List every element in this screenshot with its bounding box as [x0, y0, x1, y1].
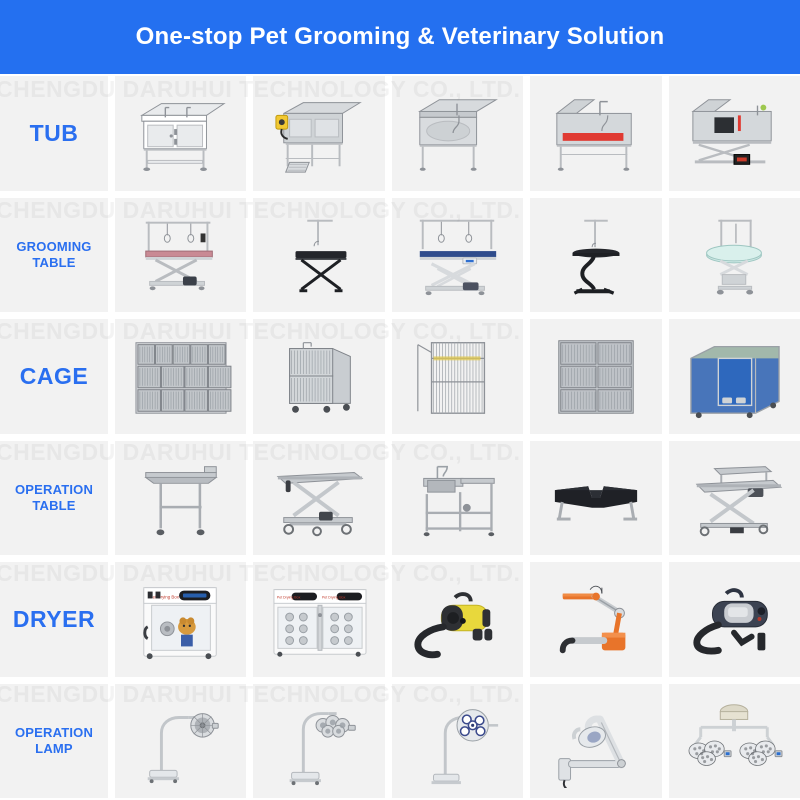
category-label-cell-tub[interactable]: TUB [0, 76, 108, 191]
op-table-sink-icon [398, 451, 516, 545]
category-label-cell-dryer[interactable]: DRYER [0, 562, 108, 677]
header-banner: One-stop Pet Grooming & Veterinary Solut… [0, 0, 800, 74]
product-cell-operation-table-with-sink[interactable] [392, 441, 523, 556]
product-cell-scissor-lift-operation-table[interactable] [253, 441, 384, 556]
category-label-text: DRYER [13, 606, 95, 633]
product-cell-stainless-walk-in-bath-tub[interactable] [392, 76, 523, 191]
op-table-scissor-icon [260, 451, 378, 545]
dryer-blaster-blue-icon [675, 572, 793, 666]
op-table-lift-shelf-icon [675, 451, 793, 545]
product-cell-single-door-drying-cabinet[interactable]: Pet Drying Box [115, 562, 246, 677]
op-table-black-v-icon [537, 451, 655, 545]
svg-text:Pet Drying Box: Pet Drying Box [149, 595, 179, 600]
product-cell-mobile-five-bulb-surgical-lamp[interactable] [392, 684, 523, 799]
category-label-text: GROOMING TABLE [4, 239, 104, 270]
category-label-cell-grooming-table[interactable]: GROOMING TABLE [0, 198, 108, 313]
svg-text:Pet Drying Box: Pet Drying Box [322, 596, 346, 600]
product-cell-stainless-exam-table-adjustable[interactable] [115, 441, 246, 556]
lamp-mobile-single-icon [122, 694, 240, 788]
product-cell-black-v-notch-dental-table[interactable] [530, 441, 661, 556]
product-cell-stainless-tub-red-interior[interactable] [530, 76, 661, 191]
product-cell-electric-lift-grooming-table-pink[interactable] [115, 198, 246, 313]
product-cell-z-lift-grooming-table-black[interactable] [530, 198, 661, 313]
category-label-cell-cage[interactable]: CAGE [0, 319, 108, 434]
category-label-text: TUB [30, 120, 79, 147]
dryer-arm-orange-icon [537, 572, 655, 666]
groom-table-round-mint-icon [675, 208, 793, 302]
product-cell-blue-glass-panel-oxygen-cage[interactable] [669, 319, 800, 434]
product-cell-electric-lift-operation-table-with-shelf[interactable] [669, 441, 800, 556]
groom-table-z-black-icon [537, 208, 655, 302]
product-cell-folding-grooming-table-black[interactable] [253, 198, 384, 313]
product-cell-scissor-lift-grooming-table-blue[interactable] [392, 198, 523, 313]
svg-text:Pet Drying Box: Pet Drying Box [277, 596, 301, 600]
dryer-blaster-yellow-icon [398, 572, 516, 666]
page-title: One-stop Pet Grooming & Veterinary Solut… [136, 23, 665, 51]
catalog-grid: TUB [0, 76, 800, 800]
product-cell-double-door-drying-cabinet[interactable]: Pet Drying Box Pet Drying Box [253, 562, 384, 677]
dryer-cabinet-double-icon: Pet Drying Box Pet Drying Box [260, 572, 378, 666]
cage-bank-icon [122, 329, 240, 423]
product-cell-mobile-single-head-surgical-lamp[interactable] [115, 684, 246, 799]
cage-double-stack-icon [537, 329, 655, 423]
product-cell-mobile-multi-reflector-surgical-lamp[interactable] [253, 684, 384, 799]
lamp-wall-arm-icon [537, 694, 655, 788]
product-cell-yellow-double-motor-blaster[interactable] [392, 562, 523, 677]
lamp-mobile-cluster-icon [260, 694, 378, 788]
cage-glass-blue-icon [675, 329, 793, 423]
cage-two-tier-icon [260, 329, 378, 423]
product-cell-ceiling-dual-head-led-surgical-lamp[interactable] [669, 684, 800, 799]
product-cell-round-grooming-table-mint[interactable] [669, 198, 800, 313]
category-label-cell-operation-lamp[interactable]: OPERATION LAMP [0, 684, 108, 799]
product-cell-blue-silver-pet-blaster[interactable] [669, 562, 800, 677]
category-label-text: OPERATION LAMP [4, 725, 104, 756]
tub-steel-open-icon [398, 86, 516, 180]
tub-steel-yellow-unit-icon [260, 86, 378, 180]
product-cell-stainless-tub-with-yellow-dryer[interactable] [253, 76, 384, 191]
product-cell-double-stack-stainless-cage[interactable] [530, 319, 661, 434]
lamp-mobile-five-icon [398, 694, 516, 788]
product-catalog-page: One-stop Pet Grooming & Veterinary Solut… [0, 0, 800, 800]
product-cell-multi-door-stainless-cage-bank[interactable] [115, 319, 246, 434]
product-cell-white-enclosed-pet-bath-tub[interactable] [115, 76, 246, 191]
tub-white-cabinet-icon [122, 86, 240, 180]
cage-wire-tall-icon [398, 329, 516, 423]
product-cell-two-tier-stainless-cage-on-casters[interactable] [253, 319, 384, 434]
tub-steel-lift-icon [675, 86, 793, 180]
category-label-cell-operation-table[interactable]: OPERATION TABLE [0, 441, 108, 556]
category-label-text: OPERATION TABLE [4, 482, 104, 513]
tub-steel-red-base-icon [537, 86, 655, 180]
product-cell-electric-lift-stainless-tub[interactable] [669, 76, 800, 191]
op-table-simple-icon [122, 451, 240, 545]
groom-table-blue-icon [398, 208, 516, 302]
category-label-text: CAGE [20, 363, 88, 390]
product-cell-wall-mounted-examination-lamp[interactable] [530, 684, 661, 799]
lamp-ceiling-dual-icon [675, 694, 793, 788]
product-cell-stainless-wire-cage-tall[interactable] [392, 319, 523, 434]
product-cell-orange-wall-arm-dryer[interactable] [530, 562, 661, 677]
groom-table-pink-icon [122, 208, 240, 302]
groom-table-folding-black-icon [260, 208, 378, 302]
dryer-cabinet-single-icon: Pet Drying Box [122, 572, 240, 666]
